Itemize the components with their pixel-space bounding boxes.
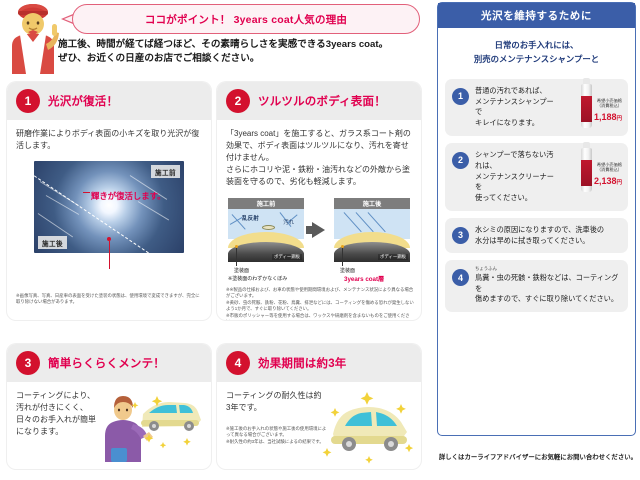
tip-2-price-note: 希望小売価格 （消費税込） — [597, 162, 622, 173]
card-3-body: コーティングにより、汚れが付きにくく、日々のお手入れが簡単になります。 — [7, 382, 211, 469]
card-2-fine-print-line3: ※市販のポリッシャー等を使用する場合は、ワックスや研磨剤を含まないものをご使用く… — [226, 313, 414, 321]
card-1-number-badge: 1 — [16, 89, 40, 113]
subtitle-line1: 日常のお手入れには、 — [438, 39, 635, 53]
lead-copy: 施工後、時間が経てば経つほど、その素晴らしさを実感できる3years coat。… — [58, 38, 424, 67]
feature-card-3: 3 簡単らくらくメンテ！ コーティングにより、汚れが付きにくく、日々のお手入れが… — [7, 344, 211, 469]
diagram-cap-before: 施工前 — [228, 198, 304, 209]
tip-2-price-note-line2: （消費税込） — [597, 167, 622, 172]
tip-4-ruby-1: ちょうふん — [475, 267, 622, 271]
tip-2-price: 2,138円 — [594, 176, 622, 186]
card-1-header: 1 光沢が復活！ — [7, 82, 211, 120]
mechanic-mascot-icon — [2, 2, 64, 74]
paint-label-before: 塗装面 — [234, 267, 249, 274]
tip-2-line3: 使ってください。 — [475, 193, 554, 204]
tip-2-price-unit: 円 — [616, 180, 622, 186]
before-after-photo: 施工前 施工後 — [34, 161, 184, 253]
card-4-title: 効果期間は約3年 — [258, 355, 347, 371]
callout-elbow — [83, 192, 90, 193]
paint-label-after: 塗装面 — [340, 267, 355, 274]
card-4-body-text: コーティングの耐久性は約3年です。 — [226, 390, 322, 414]
coat-layer-label: 3years coat層 — [344, 274, 384, 283]
tip-1-price-unit: 円 — [616, 116, 622, 122]
card-3-number-badge: 3 — [16, 351, 40, 375]
photo-tag-before: 施工前 — [151, 165, 180, 178]
leader-line-after — [342, 248, 343, 266]
tip-4-line1: 鳥糞・虫の死骸・鉄粉などは、コーティングを — [475, 273, 622, 295]
diagram-panel-after: ボディー鋼板 施工後 — [334, 198, 410, 262]
transition-arrow-icon — [312, 222, 325, 238]
callout-leader-line — [109, 241, 110, 269]
card-1-body: 研磨作業によりボディ表面の小キズを取り光沢が復活します。 施工前 施工後 — [7, 120, 211, 253]
woman-waxing-car-illustration — [91, 384, 205, 466]
tip-4-number-badge: 4 — [452, 269, 469, 286]
advertisement-page: ココがポイント！ 3years coat人気の理由 施工後、時間が経てば経つほど… — [0, 0, 640, 480]
tip-1-price: 1,188円 — [594, 112, 622, 122]
card-4-number-badge: 4 — [226, 351, 250, 375]
card-2-fine-print-line2: ※黄砂、虫の死骸、鉄粉、花粉、鳥糞、排泄などには、コーティングを傷める恐れが発生… — [226, 300, 414, 313]
dirt-blob — [262, 225, 275, 230]
maintenance-panel-title: 光沢を維持するために — [438, 3, 635, 28]
paint-surface-photo: 施工前 施工後 — [34, 161, 184, 253]
header-row: ココがポイント！ 3years coat人気の理由 施工後、時間が経てば経つほど… — [0, 0, 428, 76]
card-2-fine-print-line1: ※※製品の仕様および、お車の状態や使用期間環境および、メンテナンス状況により異な… — [226, 287, 414, 300]
tip-1-text: 普通の汚れであれば、 メンテナンスシャンプーで キレイになります。 — [475, 86, 554, 129]
coating-cross-section-diagram: 乱反射 汚れ ボディー鋼板 施工前 — [226, 198, 412, 284]
steel-label-after: ボディー鋼板 — [378, 254, 408, 260]
tip-4-text: ちょうふん 鳥糞・虫の死骸・鉄粉などは、コーティングを 傷めますので、すぐに取り… — [475, 267, 622, 305]
speech-bubble: ココがポイント！ 3years coat人気の理由 — [72, 4, 420, 34]
tip-2-line2: メンテナンスクリーナーを — [475, 172, 554, 194]
card-2-header: 2 ツルツルのボディ表面！ — [217, 82, 421, 120]
card-3-title: 簡単らくらくメンテ！ — [48, 355, 165, 371]
tip-1-price-note: 希望小売価格 （消費税込） — [597, 98, 622, 109]
card-2-number-badge: 2 — [226, 89, 250, 113]
leader-line-before — [236, 248, 237, 266]
photo-tag-after: 施工後 — [38, 236, 67, 249]
maintenance-panel: 光沢を維持するために 日常のお手入れには、 別売のメンテナンスシャンプーと 1 … — [437, 2, 636, 436]
tip-1-line3: キレイになります。 — [475, 118, 554, 129]
tip-2-text: シャンプーで落ちない汚れは、 メンテナンスクリーナーを 使ってください。 — [475, 150, 554, 204]
tip-1-price-value: 1,188 — [594, 112, 617, 122]
tip-1-product-area: 希望小売価格 （消費税込） 1,188円 — [560, 86, 622, 129]
tip-3-line2: 水分は早めに拭き取ってください。 — [475, 236, 622, 247]
card-4-body: コーティングの耐久性は約3年です。 ※施工後のお手入れの状態や施工後の使用環境に… — [217, 382, 421, 469]
card-2-fine-print: ※※製品の仕様および、お車の状態や使用期間環境および、メンテナンス状況により異な… — [226, 287, 414, 320]
tip-1-price-note-line2: （消費税込） — [597, 103, 622, 108]
maintenance-tip-2: 2 シャンプーで落ちない汚れは、 メンテナンスクリーナーを 使ってください。 希… — [445, 143, 628, 211]
leader-dot-after — [341, 245, 344, 248]
left-column: ココがポイント！ 3years coat人気の理由 施工後、時間が経てば経つほど… — [0, 0, 428, 480]
cleaner-bottle-label — [581, 160, 592, 186]
leader-dot-before — [235, 245, 238, 248]
scatter-label: 乱反射 — [242, 214, 259, 222]
card-4-fine-print: ※施工後のお手入れの状態や施工後の使用環境によって異なる場合がございます。 ※耐… — [226, 426, 328, 445]
tip-3-line1: 水シミの原因になりますので、洗車後の — [475, 225, 622, 236]
shampoo-bottle-label — [581, 96, 592, 122]
feature-card-4: 4 効果期間は約3年 コーティングの耐久性は約3年です。 ※施工後のお手入れの状… — [217, 344, 421, 469]
shine-callout-label: 輝きが復活します。 — [91, 190, 166, 202]
tip-3-number-badge: 3 — [452, 227, 469, 244]
maintenance-tip-3: 3 水シミの原因になりますので、洗車後の 水分は早めに拭き取ってください。 — [445, 218, 628, 254]
lead-copy-line1: 施工後、時間が経てば経つほど、その素晴らしさを実感できる3years coat。 — [58, 38, 424, 52]
tip-1-number-badge: 1 — [452, 88, 469, 105]
card-1-fine-print: ※画像写真、写真、日産車の表面を受けた塗装の状態は、使用環境で変成できますが、完… — [16, 293, 202, 306]
card-1-body-text: 研磨作業によりボディ表面の小キズを取り光沢が復活します。 — [16, 128, 202, 152]
feature-card-2: 2 ツルツルのボディ表面！ 「3years coat」を施工すると、ガラス系コー… — [217, 82, 421, 320]
card-2-body-line2: さらにホコリや泥・鉄粉・油汚れなどの外敵から塗装面を守るので、劣化も軽減します。 — [226, 164, 412, 188]
maintenance-tip-4: 4 ちょうふん 鳥糞・虫の死骸・鉄粉などは、コーティングを 傷めますので、すぐに… — [445, 260, 628, 312]
subtitle-line2: 別売のメンテナンスシャンプーと — [438, 53, 635, 67]
card-3-body-text: コーティングにより、汚れが付きにくく、日々のお手入れが簡単になります。 — [16, 390, 98, 438]
maintenance-tip-1: 1 普通の汚れであれば、 メンテナンスシャンプーで キレイになります。 希望小売… — [445, 79, 628, 136]
feature-card-1: 1 光沢が復活！ 研磨作業によりボディ表面の小キズを取り光沢が復活します。 施工… — [7, 82, 211, 320]
tip-2-number-badge: 2 — [452, 152, 469, 169]
tip-2-line1: シャンプーで落ちない汚れは、 — [475, 150, 554, 172]
tip-4-line2: 傷めますので、すぐに取り除いてください。 — [475, 294, 622, 305]
card-1-title: 光沢が復活！ — [48, 93, 118, 109]
diagram-cap-after: 施工後 — [334, 198, 410, 209]
tip-1-line1: 普通の汚れであれば、 — [475, 86, 554, 97]
maintenance-panel-subtitle: 日常のお手入れには、 別売のメンテナンスシャンプーと — [438, 39, 635, 67]
dirt-label: 汚れ — [283, 218, 294, 226]
card-4-fine-print-line2: ※耐久性の約3年は、当社試験によるの結果です。 — [226, 439, 328, 445]
lead-copy-line2: ぜひ、お近くの日産のお店でご相談ください。 — [58, 52, 424, 66]
tip-3-text: 水シミの原因になりますので、洗車後の 水分は早めに拭き取ってください。 — [475, 225, 622, 247]
headline-text: ココがポイント！ 3years coat人気の理由 — [145, 12, 347, 27]
tip-2-product-area: 希望小売価格 （消費税込） 2,138円 — [560, 150, 622, 204]
card-2-body-line1: 「3years coat」を施工すると、ガラス系コート剤の効果で、ボディ表面はツ… — [226, 128, 412, 164]
card-2-title: ツルツルのボディ表面！ — [258, 93, 386, 109]
footer-note: 詳しくはカーライフアドバイザーにお気軽にお問い合わせください。 — [437, 452, 637, 461]
card-4-header: 4 効果期間は約3年 — [217, 344, 421, 382]
tip-1-line2: メンテナンスシャンプーで — [475, 97, 554, 119]
shiny-car-illustration — [321, 386, 415, 466]
card-4-fine-print-line1: ※施工後のお手入れの状態や施工後の使用環境によって異なる場合がございます。 — [226, 426, 328, 439]
card-3-header: 3 簡単らくらくメンテ！ — [7, 344, 211, 382]
card-2-body: 「3years coat」を施工すると、ガラス系コート剤の効果で、ボディ表面はツ… — [217, 120, 421, 284]
steel-label-before: ボディー鋼板 — [272, 254, 302, 260]
tip-2-price-value: 2,138 — [594, 176, 617, 186]
paint-note-before: ※塗装面のわずかなくぼみ — [228, 275, 287, 282]
diagram-panel-before: 乱反射 汚れ ボディー鋼板 施工前 — [228, 198, 304, 262]
